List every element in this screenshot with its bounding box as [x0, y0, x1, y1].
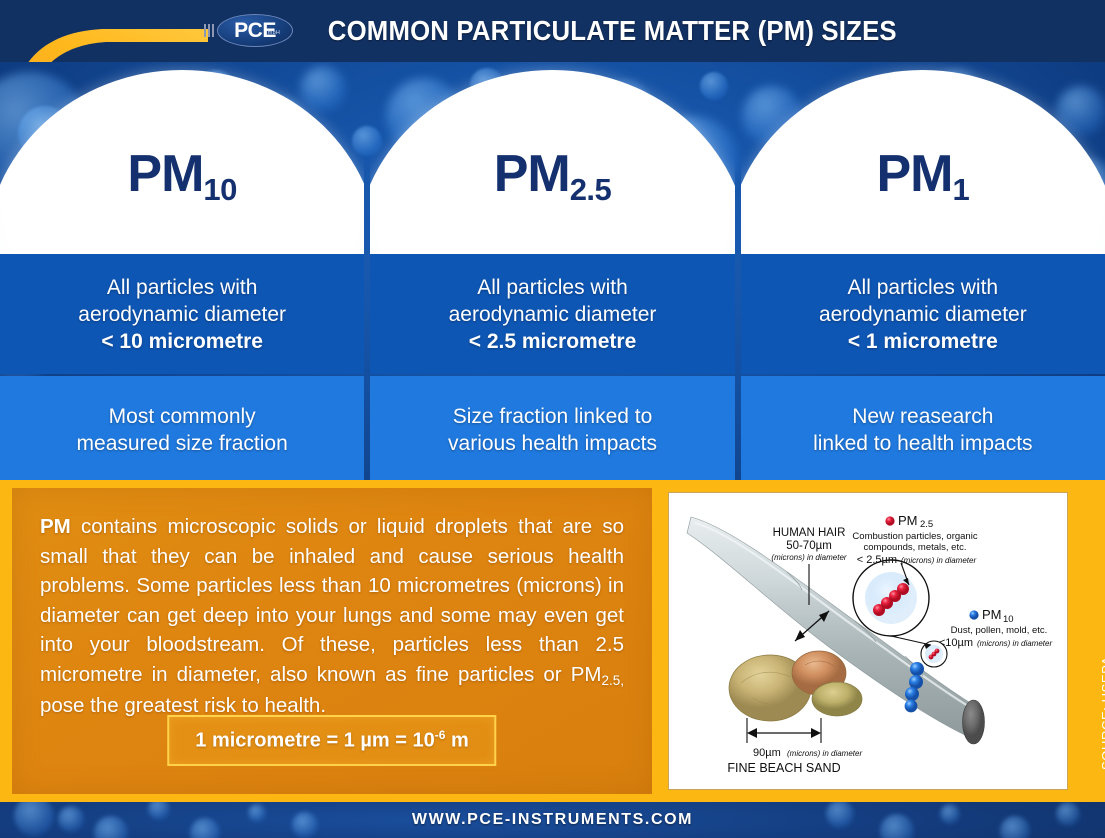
definition-threshold: < 10 micrometre [101, 328, 263, 355]
footer-website-url[interactable]: WWW.PCE-INSTRUMENTS.COM [0, 802, 1105, 838]
pm-label-subscript: 1 [952, 172, 969, 207]
hair-label-size: 50-70µm [786, 540, 832, 552]
epa-pm25-title: PM [898, 513, 918, 528]
epa-pm25-note: (microns) in diameter [901, 556, 976, 565]
pm-card-label-pm10: PM10 [0, 148, 364, 200]
note-line-2: measured size fraction [77, 430, 288, 457]
description-panel: PM contains microscopic solids or liquid… [12, 488, 652, 794]
pm-card-pm1[interactable]: PM1 All particles with aerodynamic diame… [741, 62, 1105, 480]
epa-pm25-title-sub: 2.5 [920, 519, 933, 530]
beach-sand-grains [729, 651, 862, 721]
definition-line-2: aerodynamic diameter [819, 301, 1027, 328]
definition-line-1: All particles with [107, 274, 258, 301]
unit-conversion-box: 1 micrometre = 1 µm = 10-6 m [167, 715, 496, 766]
pm-card-note-pm10: Most commonly measured size fraction [0, 376, 364, 480]
pm-card-note-pm25: Size fraction linked to various health i… [370, 376, 734, 480]
epa-pm10-title: PM [982, 607, 1002, 622]
hair-cross-section [963, 700, 985, 744]
pm-label-main: PM [876, 145, 952, 203]
pm25-legend-dot-icon [885, 516, 894, 525]
epa-pm25-desc-1: Combustion particles, organic [852, 531, 977, 542]
epa-pm25-size: < 2.5µm [857, 554, 897, 566]
hair-label-title: HUMAN HAIR [773, 527, 846, 539]
pm-card-note-pm1: New reasearch linked to health impacts [741, 376, 1105, 480]
definition-line-2: aerodynamic diameter [449, 301, 657, 328]
epa-pm10-title-sub: 10 [1003, 614, 1014, 625]
pm-label-subscript: 10 [203, 172, 236, 207]
pm-card-definition-pm10: All particles with aerodynamic diameter … [0, 254, 364, 374]
note-line-1: Most commonly [109, 403, 256, 430]
sand-title: FINE BEACH SAND [727, 761, 840, 775]
description-paragraph: PM contains microscopic solids or liquid… [40, 512, 624, 721]
pm-card-definition-pm25: All particles with aerodynamic diameter … [370, 254, 734, 374]
pm-card-label-pm25: PM2.5 [370, 148, 734, 200]
page-title: COMMON PARTICULATE MATTER (PM) SIZES [44, 0, 1061, 62]
epa-pm10-note: (microns) in diameter [977, 639, 1052, 648]
note-line-1: Size fraction linked to [453, 403, 653, 430]
definition-threshold: < 2.5 micrometre [469, 328, 637, 355]
epa-pm25-desc-2: compounds, metals, etc. [864, 542, 967, 553]
definition-line-1: All particles with [848, 274, 999, 301]
definition-line-1: All particles with [477, 274, 628, 301]
pm-card-label-pm1: PM1 [741, 148, 1105, 200]
pm-label-main: PM [494, 145, 570, 203]
hair-label-note: (microns) in diameter [771, 553, 846, 562]
header-bar: PCE mbH COMMON PARTICULATE MATTER (PM) S… [0, 0, 1105, 62]
footer-bar: WWW.PCE-INSTRUMENTS.COM [0, 802, 1105, 838]
epa-pm10-size: <10µm [939, 637, 973, 649]
info-section: PM contains microscopic solids or liquid… [0, 480, 1105, 802]
definition-line-2: aerodynamic diameter [78, 301, 286, 328]
source-attribution: SOURCE: USEPA [1099, 630, 1105, 770]
note-line-2: various health impacts [448, 430, 657, 457]
pm-card-pm25[interactable]: PM2.5 All particles with aerodynamic dia… [370, 62, 734, 480]
pm-card-list: PM10 All particles with aerodynamic diam… [0, 62, 1105, 480]
note-line-2: linked to health impacts [813, 430, 1032, 457]
pm-card-pm10[interactable]: PM10 All particles with aerodynamic diam… [0, 62, 364, 480]
pm-label-subscript: 2.5 [570, 172, 612, 207]
pm-label-main: PM [127, 145, 203, 203]
epa-diagram-svg: HUMAN HAIR 50-70µm (microns) in diameter… [669, 493, 1068, 790]
note-line-1: New reasearch [852, 403, 993, 430]
epa-pm10-desc-1: Dust, pollen, mold, etc. [951, 625, 1048, 636]
sand-note: (microns) in diameter [787, 749, 862, 758]
unit-conversion-text: 1 micrometre = 1 µm = 10-6 m [195, 728, 468, 753]
epa-particle-size-diagram: HUMAN HAIR 50-70µm (microns) in diameter… [668, 492, 1068, 790]
sand-size: 90µm [753, 747, 781, 759]
definition-threshold: < 1 micrometre [848, 328, 998, 355]
pm10-legend-dot-icon [969, 610, 978, 619]
infographic-root: PCE mbH COMMON PARTICULATE MATTER (PM) S… [0, 0, 1105, 838]
pm-card-definition-pm1: All particles with aerodynamic diameter … [741, 254, 1105, 374]
